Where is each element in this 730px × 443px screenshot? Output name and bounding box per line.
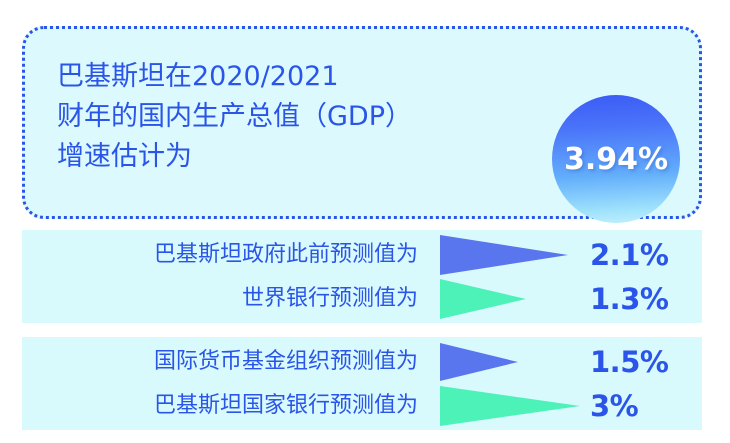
gdp-growth-value: 3.94% (564, 142, 668, 177)
gdp-growth-circle: 3.94% (552, 95, 680, 223)
arrow-wrap (430, 279, 590, 319)
forecast-value: 1.3% (590, 282, 668, 316)
forecast-label: 国际货币基金组织预测值为 (22, 347, 430, 377)
triangle-right-icon (440, 235, 568, 275)
forecast-row: 国际货币基金组织预测值为 1.5% (22, 339, 702, 385)
forecast-row: 世界银行预测值为 1.3% (22, 276, 702, 322)
arrow-wrap (430, 342, 590, 382)
triangle-right-icon (440, 343, 518, 381)
forecast-row: 巴基斯坦政府此前预测值为 2.1% (22, 232, 702, 278)
triangle-right-icon (440, 386, 580, 426)
page-title: 巴基斯坦在2020/2021 财年的国内生产总值（GDP） 增速估计为 (57, 57, 487, 177)
forecast-value: 2.1% (590, 238, 668, 272)
forecast-panel-2: 国际货币基金组织预测值为 1.5% 巴基斯坦国家银行预测值为 3% (22, 337, 702, 430)
forecast-label: 巴基斯坦政府此前预测值为 (22, 240, 430, 270)
arrow-wrap (430, 235, 590, 275)
forecast-panel-1: 巴基斯坦政府此前预测值为 2.1% 世界银行预测值为 1.3% (22, 230, 702, 323)
arrow-wrap (430, 386, 590, 426)
forecast-row: 巴基斯坦国家银行预测值为 3% (22, 383, 702, 429)
forecast-label: 世界银行预测值为 (22, 284, 430, 314)
forecast-value: 1.5% (590, 345, 668, 379)
hero-panel: 巴基斯坦在2020/2021 财年的国内生产总值（GDP） 增速估计为 3.94… (22, 26, 702, 219)
forecast-value: 3% (590, 389, 638, 423)
forecast-label: 巴基斯坦国家银行预测值为 (22, 391, 430, 421)
triangle-right-icon (440, 279, 526, 319)
